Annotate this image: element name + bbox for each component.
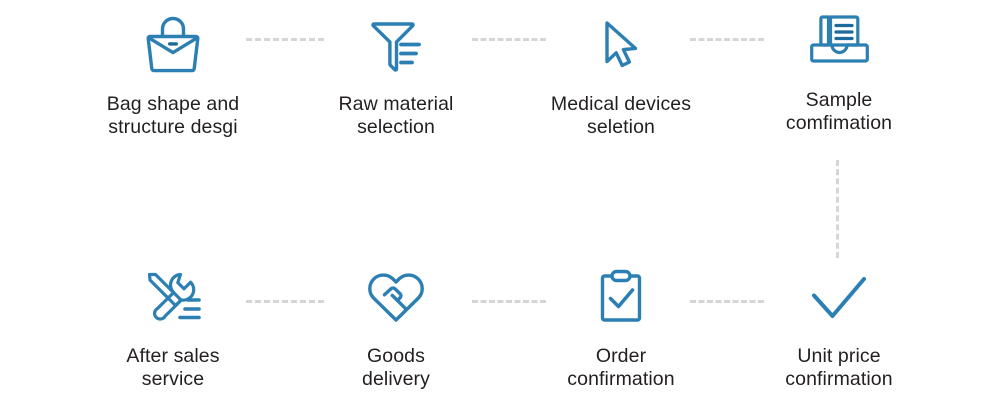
flow-step-medical-devices-selection[interactable]: Medical devices seletion (510, 6, 732, 139)
flow-step-label: Sample comfimation (728, 80, 950, 135)
flow-step-label: Unit price confirmation (728, 336, 950, 391)
flow-step-label: Order confirmation (510, 336, 732, 391)
process-flow-diagram: Bag shape and structure desgi Raw materi… (0, 0, 1000, 415)
connector-step4-step8 (836, 160, 839, 258)
connector-step3-step4 (690, 38, 764, 41)
wrench-screwdriver-icon (137, 265, 209, 329)
connector-step8-step7 (690, 300, 764, 303)
flow-step-goods-delivery[interactable]: Goods delivery (285, 258, 507, 391)
flow-step-order-confirmation[interactable]: Order confirmation (510, 258, 732, 391)
flow-step-unit-price-confirmation[interactable]: Unit price confirmation (728, 258, 950, 391)
flow-step-raw-material-selection[interactable]: Raw material selection (285, 6, 507, 139)
connector-step7-step6 (472, 300, 546, 303)
handbag-icon (138, 14, 208, 76)
checkmark-icon-wrapper (728, 258, 950, 336)
flow-step-label: Raw material selection (285, 84, 507, 139)
flow-step-after-sales-service[interactable]: After sales service (62, 258, 284, 391)
cursor-pointer-icon-wrapper (510, 6, 732, 84)
flow-step-label: Bag shape and structure desgi (62, 84, 284, 139)
flow-step-label: After sales service (62, 336, 284, 391)
filter-funnel-icon-wrapper (285, 6, 507, 84)
heart-handshake-icon-wrapper (285, 258, 507, 336)
clipboard-check-icon (587, 265, 655, 329)
checkmark-icon (801, 266, 877, 328)
connector-step6-step5 (246, 300, 324, 303)
connector-step2-step3 (472, 38, 546, 41)
filter-funnel-icon (361, 14, 431, 76)
flow-step-sample-confirmation[interactable]: Sample comfimation (728, 2, 950, 135)
document-tray-icon-wrapper (728, 2, 950, 80)
document-tray-icon (802, 8, 876, 74)
flow-step-bag-shape-and-structure-design[interactable]: Bag shape and structure desgi (62, 6, 284, 139)
handbag-icon-wrapper (62, 6, 284, 84)
clipboard-check-icon-wrapper (510, 258, 732, 336)
flow-step-label: Goods delivery (285, 336, 507, 391)
heart-handshake-icon (359, 265, 433, 329)
connector-step1-step2 (246, 38, 324, 41)
wrench-screwdriver-icon-wrapper (62, 258, 284, 336)
flow-step-label: Medical devices seletion (510, 84, 732, 139)
cursor-pointer-icon (586, 14, 656, 76)
